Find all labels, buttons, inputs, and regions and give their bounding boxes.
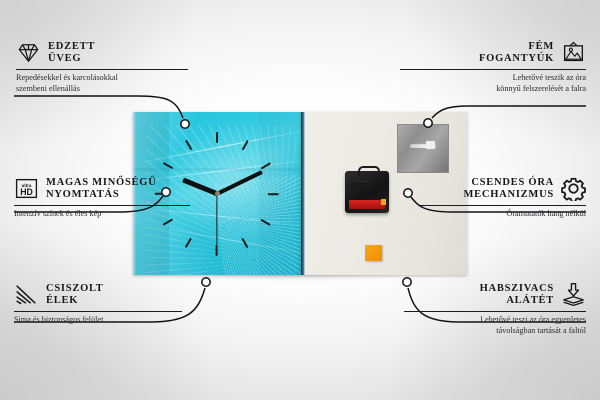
feature-header: HABSZIVACS ALÁTÉT <box>404 282 586 307</box>
feature-title-line1: EDZETT <box>48 41 95 53</box>
feature-desc-line1: Lehetővé teszik az óra <box>400 73 586 84</box>
hanger-hole <box>426 141 435 149</box>
divider <box>14 311 182 313</box>
hands-center-pin <box>215 191 220 196</box>
feature-description: Lehetővé teszik az óra könnyű felszerelé… <box>400 73 586 95</box>
feature-header: CSISZOLT ÉLEK <box>14 282 182 307</box>
diamond-icon <box>16 40 41 65</box>
feature-description: Óramutatók hang nélkül <box>420 209 586 220</box>
feature-high-quality-print: ultra HD MAGAS MINŐSÉGŰ NYOMTATÁS Intenz… <box>14 176 190 220</box>
feature-description: Repedésekkel és karcolásokkal szembeni e… <box>16 73 188 95</box>
feature-title-line1: FÉM <box>479 41 554 53</box>
picture-hanger-icon <box>561 40 586 65</box>
feature-header: FÉM FOGANTYÚK <box>400 40 586 65</box>
ultra-hd-icon: ultra HD <box>14 176 39 201</box>
divider <box>16 69 188 71</box>
panel-edge-shadow <box>301 112 305 275</box>
feature-title-line2: ÉLEK <box>46 295 104 307</box>
feature-title: CSENDES ÓRA MECHANIZMUS <box>463 177 554 201</box>
feature-title-line2: NYOMTATÁS <box>46 189 157 201</box>
hour-marker <box>216 132 218 194</box>
feature-desc-line2: távolságban tartását a faltól <box>404 326 586 337</box>
feature-title-line1: MAGAS MINŐSÉGŰ <box>46 177 157 189</box>
feature-silent-clock-mechanism: CSENDES ÓRA MECHANIZMUS Óramutatók hang … <box>420 176 586 220</box>
feature-tempered-glass: EDZETT ÜVEG Repedésekkel és karcolásokka… <box>16 40 188 95</box>
feature-title-line1: CSISZOLT <box>46 283 104 295</box>
feature-desc-line1: Óramutatók hang nélkül <box>420 209 586 220</box>
feature-description: Lehetővé teszi az óra egyenletes távolsá… <box>404 315 586 337</box>
divider <box>400 69 586 71</box>
battery-terminal <box>381 199 386 205</box>
feature-desc-line1: Intenzív színek és éles kép <box>14 209 190 220</box>
battery <box>349 200 385 209</box>
divider <box>404 311 586 313</box>
feature-desc-line1: Lehetővé teszi az óra egyenletes <box>404 315 586 326</box>
foam-pad-press-icon <box>561 282 586 307</box>
metal-hanger-bracket <box>397 124 449 173</box>
feature-header: EDZETT ÜVEG <box>16 40 188 65</box>
feature-desc-line1: Sima és biztonságos felület <box>14 315 182 326</box>
feature-polished-edges: CSISZOLT ÉLEK Sima és biztonságos felüle… <box>14 282 182 326</box>
feature-header: ultra HD MAGAS MINŐSÉGŰ NYOMTATÁS <box>14 176 190 201</box>
feature-title: FÉM FOGANTYÚK <box>479 41 554 65</box>
feature-title: EDZETT ÜVEG <box>48 41 95 65</box>
svg-text:HD: HD <box>20 187 33 197</box>
feature-title-line2: ÜVEG <box>48 53 95 65</box>
feature-description: Sima és biztonságos felület <box>14 315 182 326</box>
feature-title-line1: HABSZIVACS <box>480 283 554 295</box>
feature-metal-handles: FÉM FOGANTYÚK Lehetővé teszik az óra kön… <box>400 40 586 95</box>
feature-foam-backing: HABSZIVACS ALÁTÉT Lehetővé teszi az óra … <box>404 282 586 337</box>
divider <box>420 205 586 207</box>
foam-spacer-pad <box>365 245 382 261</box>
mechanism-handle <box>358 166 380 176</box>
feature-title: MAGAS MINŐSÉGŰ NYOMTATÁS <box>46 177 157 201</box>
feature-title-line2: ALÁTÉT <box>480 295 554 307</box>
mechanism-slot <box>350 181 370 187</box>
beveled-edge-icon <box>14 282 39 307</box>
feature-description: Intenzív színek és éles kép <box>14 209 190 220</box>
divider <box>14 205 190 207</box>
feature-desc-line1: Repedésekkel és karcolásokkal <box>16 73 188 84</box>
feature-desc-line2: szembeni ellenállás <box>16 84 188 95</box>
feature-title-line1: CSENDES ÓRA <box>463 177 554 189</box>
feature-title: CSISZOLT ÉLEK <box>46 283 104 307</box>
infographic-canvas: EDZETT ÜVEG Repedésekkel és karcolásokka… <box>0 0 600 400</box>
feature-title-line2: MECHANIZMUS <box>463 189 554 201</box>
quartz-clock-mechanism <box>345 171 389 213</box>
feature-desc-line2: könnyű felszerelését a falra <box>400 84 586 95</box>
feature-title-line2: FOGANTYÚK <box>479 53 554 65</box>
gear-icon <box>561 176 586 201</box>
feature-title: HABSZIVACS ALÁTÉT <box>480 283 554 307</box>
feature-header: CSENDES ÓRA MECHANIZMUS <box>420 176 586 201</box>
hour-marker <box>217 193 279 195</box>
